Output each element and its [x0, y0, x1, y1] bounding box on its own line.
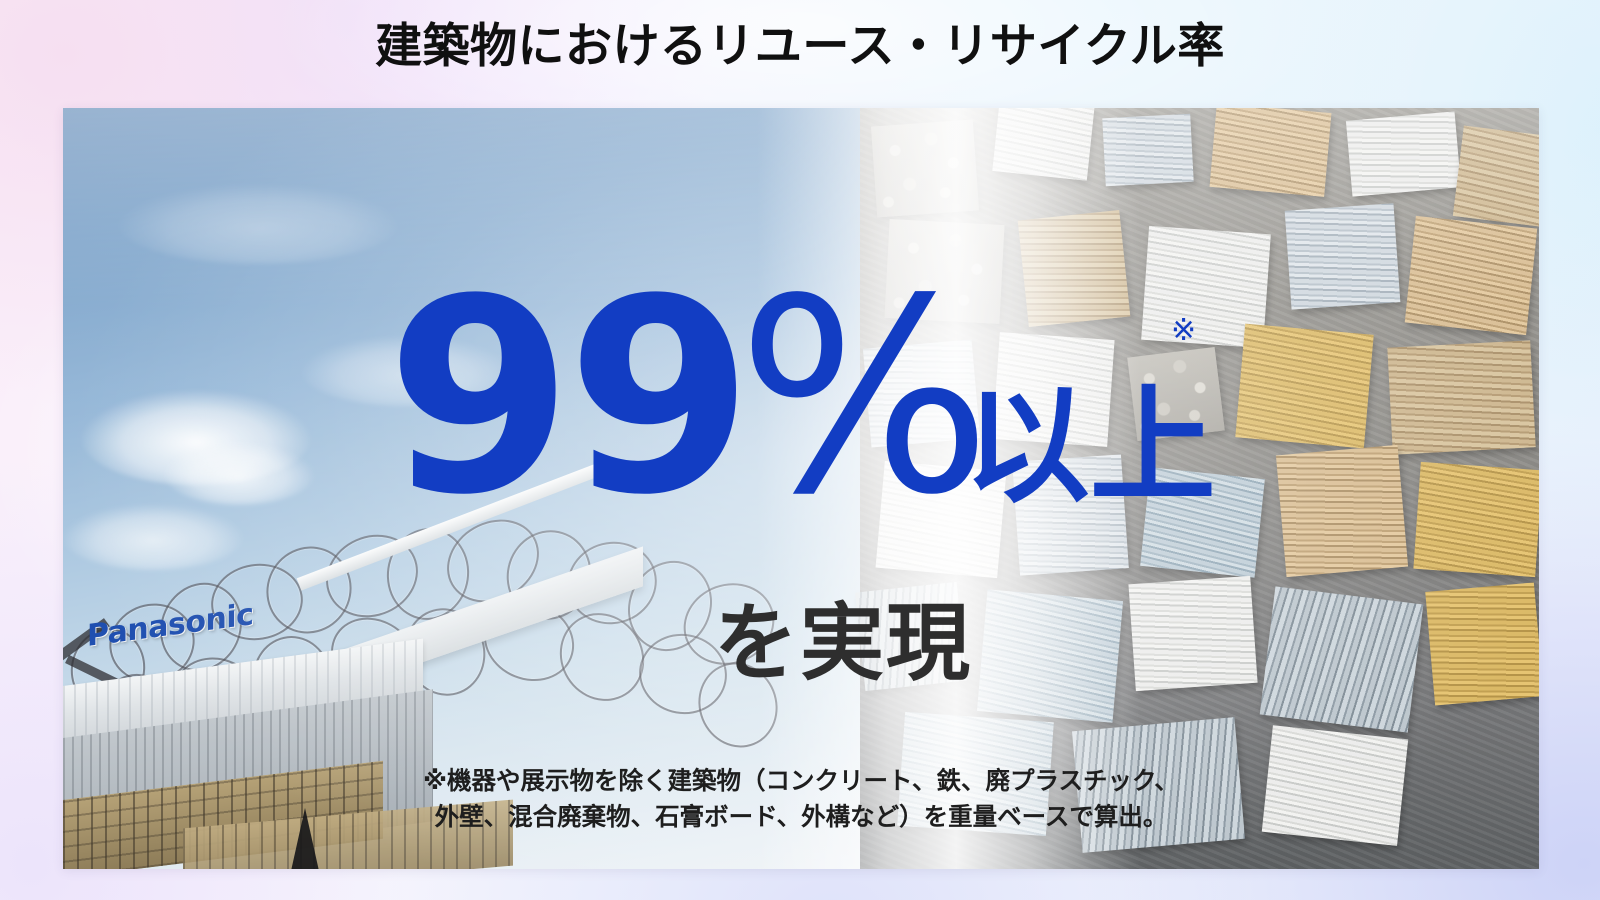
- photo-card: Panasonic: [63, 108, 1539, 869]
- footnote-line-1: ※機器や展示物を除く建築物（コンクリート、鉄、廃プラスチック、: [363, 763, 1239, 799]
- material-stack: [1103, 113, 1195, 186]
- stat-number: 99: [386, 286, 747, 511]
- stat-suffix: 以上: [964, 384, 1216, 510]
- material-stack: [871, 120, 979, 218]
- footnote: ※機器や展示物を除く建築物（コンクリート、鉄、廃プラスチック、 外壁、混合廃棄物…: [63, 763, 1539, 834]
- stat-verb: を実現: [63, 576, 1539, 697]
- page-title: 建築物におけるリユース・リサイクル率: [0, 22, 1600, 73]
- material-stack: [1452, 125, 1539, 227]
- cloud: [118, 184, 398, 264]
- material-stack: [992, 108, 1094, 181]
- slide-canvas: 建築物におけるリユース・リサイクル率: [0, 0, 1600, 900]
- footnote-line-2: 外壁、混合廃棄物、石膏ボード、外構など）を重量ベースで算出。: [363, 799, 1239, 835]
- material-stack: [1210, 108, 1332, 197]
- statistic-row: 99 % 以上: [63, 286, 1539, 511]
- stat-percent-sign: %: [737, 286, 988, 511]
- material-stack: [1346, 111, 1461, 196]
- reference-mark-icon: ※: [1171, 313, 1196, 348]
